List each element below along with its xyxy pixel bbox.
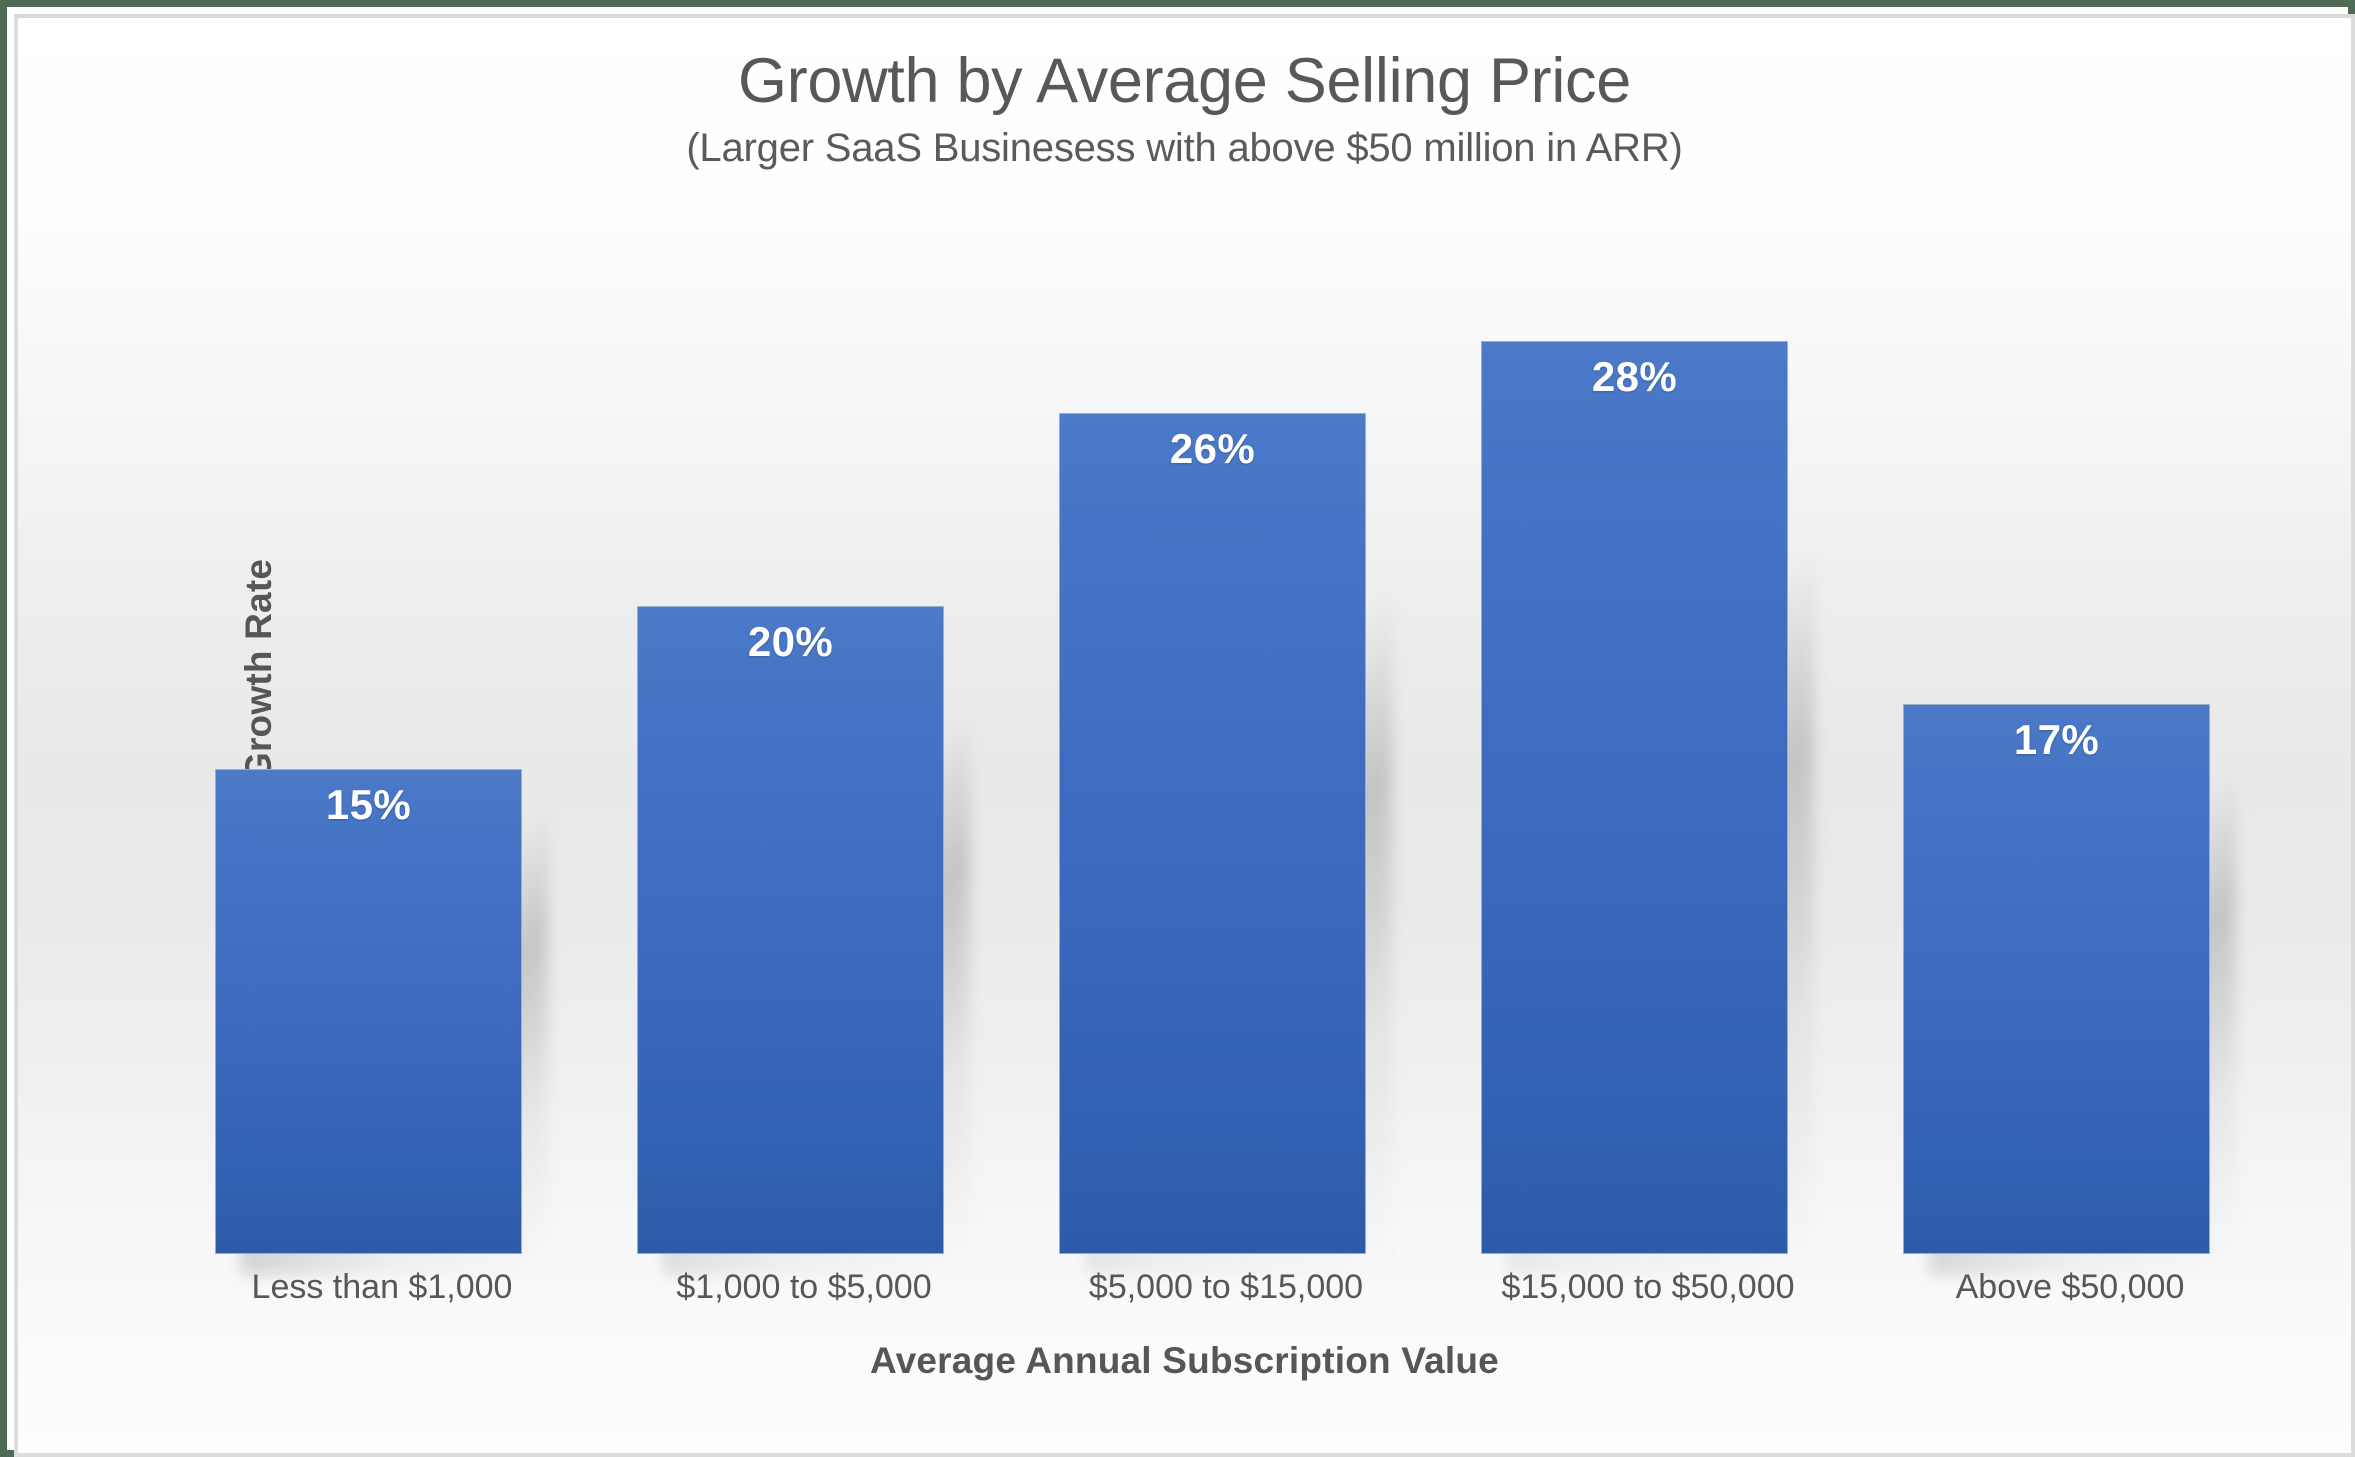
- bar-value-label: 15%: [215, 781, 522, 829]
- chart-canvas: Growth by Average Selling Price (Larger …: [14, 14, 2355, 1457]
- bar-above-50000[interactable]: [1903, 704, 2210, 1254]
- plot-area: 15% Less than $1,000 20% $1,000 to $5,00…: [171, 168, 2281, 1254]
- category-label-1: Less than $1,000: [171, 1268, 593, 1307]
- category-label-2: $1,000 to $5,000: [593, 1268, 1015, 1307]
- bar-5000-to-15000[interactable]: [1059, 413, 1366, 1254]
- chart-subtitle: (Larger SaaS Businesess with above $50 m…: [18, 126, 2351, 171]
- bar-less-than-1000[interactable]: [215, 769, 522, 1254]
- bar-value-label: 26%: [1059, 425, 1366, 473]
- bar-1000-to-5000[interactable]: [637, 606, 944, 1254]
- category-label-3: $5,000 to $15,000: [1015, 1268, 1437, 1307]
- bar-value-label: 17%: [1903, 716, 2210, 764]
- bar-slot-2: 20% $1,000 to $5,000: [593, 168, 1015, 1254]
- bar-value-label: 20%: [637, 618, 944, 666]
- chart-outer-border: Growth by Average Selling Price (Larger …: [0, 0, 2355, 1457]
- bar-15000-to-50000[interactable]: [1481, 341, 1788, 1254]
- bar-slot-1: 15% Less than $1,000: [171, 168, 593, 1254]
- category-label-5: Above $50,000: [1859, 1268, 2281, 1307]
- category-label-4: $15,000 to $50,000: [1437, 1268, 1859, 1307]
- title-block: Growth by Average Selling Price (Larger …: [18, 48, 2351, 171]
- bar-slot-4: 28% $15,000 to $50,000: [1437, 168, 1859, 1254]
- bar-slot-3: 26% $5,000 to $15,000: [1015, 168, 1437, 1254]
- chart-title: Growth by Average Selling Price: [18, 48, 2351, 115]
- bar-slot-5: 17% Above $50,000: [1859, 168, 2281, 1254]
- bar-value-label: 28%: [1481, 353, 1788, 401]
- x-axis-title: Average Annual Subscription Value: [18, 1340, 2351, 1382]
